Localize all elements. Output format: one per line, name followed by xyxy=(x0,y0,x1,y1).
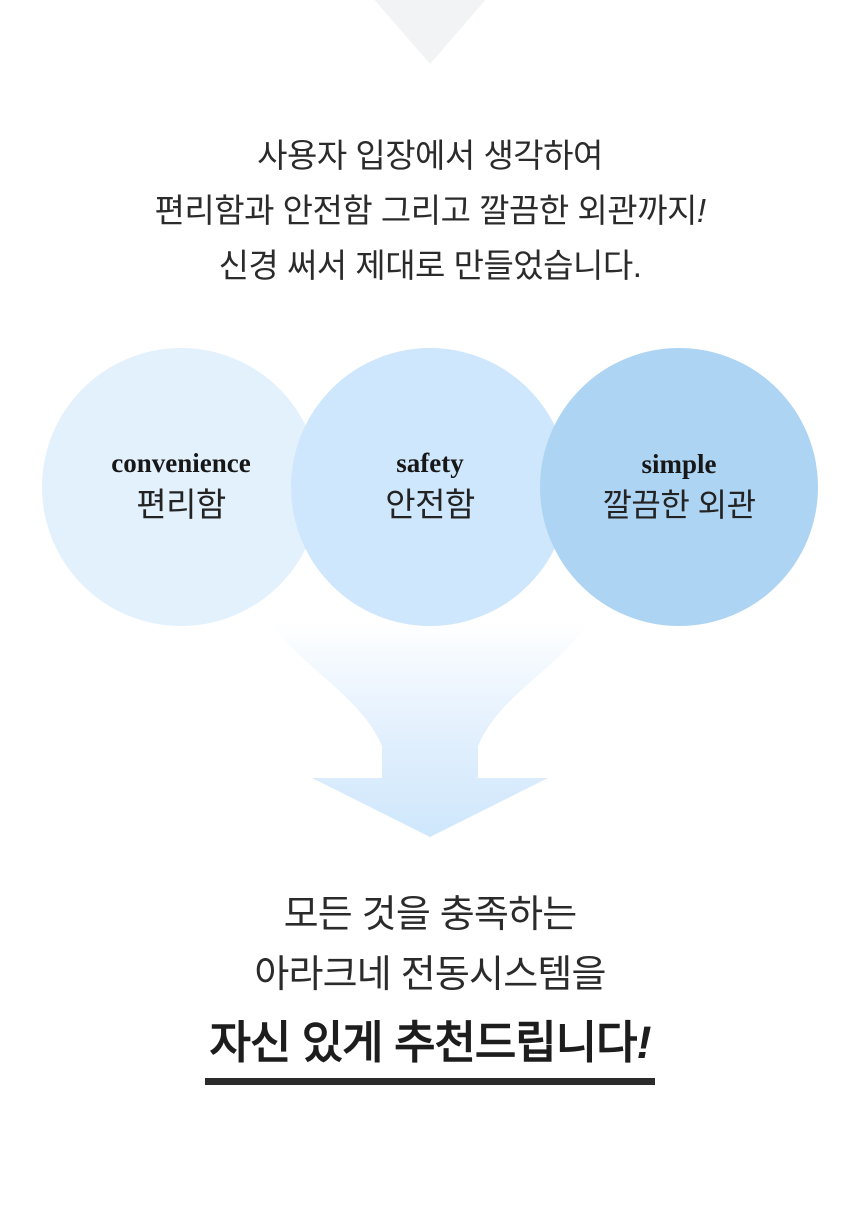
feature-circle-simple: simple 깔끔한 외관 xyxy=(540,348,818,626)
funnel-down-arrow-icon xyxy=(0,622,860,848)
outro-recommendation-exclamation: ! xyxy=(637,1017,651,1068)
outro-line-1: 모든 것을 충족하는 xyxy=(0,885,860,945)
intro-line-2-exclamation: ! xyxy=(697,192,706,229)
intro-line-1: 사용자 입장에서 생각하여 xyxy=(0,128,860,183)
feature-circle-simple-en: simple xyxy=(641,451,716,478)
intro-line-2: 편리함과 안전함 그리고 깔끔한 외관까지! xyxy=(0,183,860,238)
feature-circle-convenience: convenience 편리함 xyxy=(42,348,320,626)
intro-heading: 사용자 입장에서 생각하여 편리함과 안전함 그리고 깔끔한 외관까지! 신경 … xyxy=(0,128,860,293)
intro-line-2-text: 편리함과 안전함 그리고 깔끔한 외관까지 xyxy=(155,192,697,229)
feature-circle-safety: safety 안전함 xyxy=(291,348,569,626)
outro-heading: 모든 것을 충족하는 아라크네 전동시스템을 자신 있게 추천드립니다! xyxy=(0,885,860,1085)
intro-line-3: 신경 써서 제대로 만들었습니다. xyxy=(0,238,860,293)
feature-circles: convenience 편리함 safety 안전함 simple 깔끔한 외관 xyxy=(0,348,860,626)
outro-recommendation: 자신 있게 추천드립니다! xyxy=(205,1011,654,1085)
outro-line-2: 아라크네 전동시스템을 xyxy=(0,945,860,1005)
outro-recommendation-text: 자신 있게 추천드립니다 xyxy=(209,1017,636,1068)
feature-circle-convenience-en: convenience xyxy=(111,450,250,477)
promo-page: 사용자 입장에서 생각하여 편리함과 안전함 그리고 깔끔한 외관까지! 신경 … xyxy=(0,0,860,1223)
feature-circle-simple-ko: 깔끔한 외관 xyxy=(602,487,755,524)
feature-circle-safety-en: safety xyxy=(396,450,463,477)
outro-line-3-wrap: 자신 있게 추천드립니다! xyxy=(0,1011,860,1085)
feature-circle-convenience-ko: 편리함 xyxy=(136,486,226,524)
feature-circle-safety-ko: 안전함 xyxy=(385,486,475,524)
chevron-down-icon xyxy=(0,0,860,70)
